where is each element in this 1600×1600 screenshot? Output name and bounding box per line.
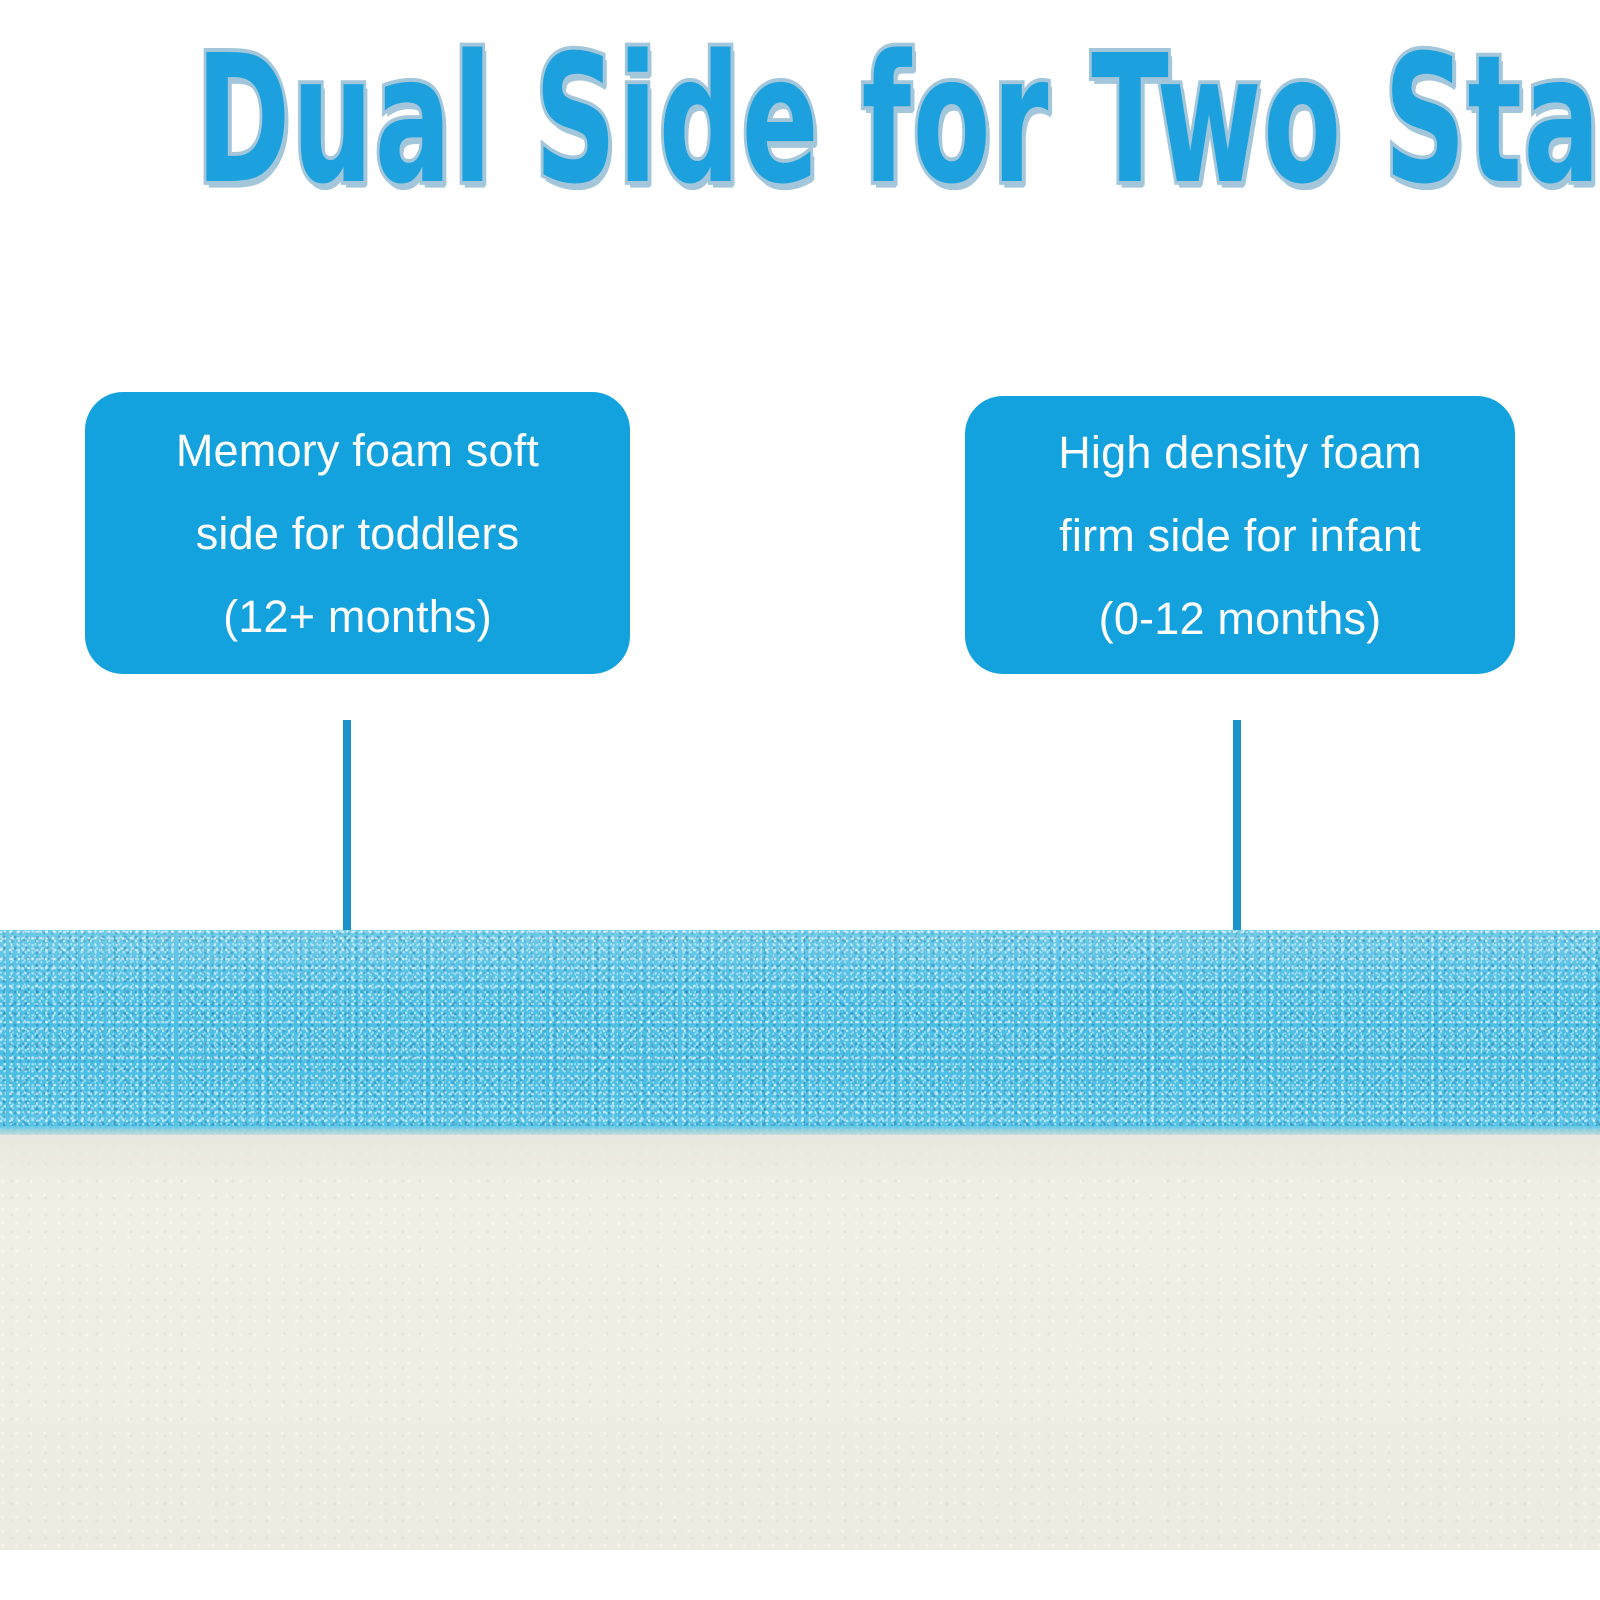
callout-right-line-3: (0-12 months) xyxy=(1099,596,1382,641)
callout-left-memory-foam: Memory foam soft side for toddlers (12+ … xyxy=(85,392,630,674)
blue-memory-foam-layer xyxy=(0,930,1600,1138)
foam-cross-section xyxy=(0,930,1600,1550)
page-title-text: Dual Side for Two Stage xyxy=(196,32,1600,209)
cream-high-density-foam-layer xyxy=(0,1135,1600,1550)
foam-cream-sheen xyxy=(0,1135,1600,1181)
infographic-canvas: Dual Side for Two Stage Memory foam soft… xyxy=(0,0,1600,1600)
callout-left-line-3: (12+ months) xyxy=(223,594,492,639)
callout-right-line-2: firm side for infant xyxy=(1059,513,1421,558)
page-title: Dual Side for Two Stage xyxy=(0,32,1600,190)
callout-right-high-density-foam: High density foam firm side for infant (… xyxy=(965,396,1515,674)
callout-left-line-1: Memory foam soft xyxy=(176,428,539,473)
callout-left-line-2: side for toddlers xyxy=(196,511,520,556)
callout-right-line-1: High density foam xyxy=(1058,430,1422,475)
